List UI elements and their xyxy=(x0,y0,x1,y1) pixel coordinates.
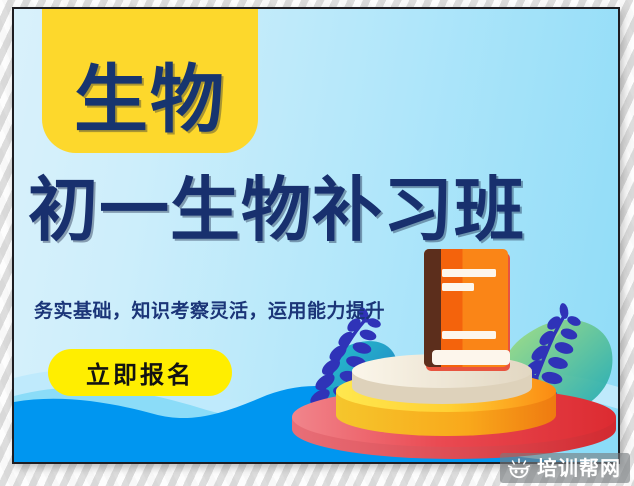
subject-badge-label: 生物 xyxy=(74,63,226,137)
page-title: 初一生物补习班 xyxy=(28,175,608,245)
course-promo-banner: 生物 初一生物补习班 务实基础，知识考察灵活，运用能力提升 立即报名 xyxy=(12,7,620,464)
sun-face-icon xyxy=(507,458,531,479)
enroll-now-button[interactable]: 立即报名 xyxy=(48,349,232,396)
book-illustration xyxy=(424,249,510,371)
book-podium-illustration xyxy=(286,249,620,464)
watermark-label: 培训帮网 xyxy=(537,458,621,478)
page-frame: 生物 初一生物补习班 务实基础，知识考察灵活，运用能力提升 立即报名 培训帮网 xyxy=(0,0,634,486)
subtitle-text: 务实基础，知识考察灵活，运用能力提升 xyxy=(34,296,385,323)
subject-badge: 生物 xyxy=(42,7,258,153)
enroll-now-button-label: 立即报名 xyxy=(86,355,194,390)
watermark: 培训帮网 xyxy=(500,453,630,483)
